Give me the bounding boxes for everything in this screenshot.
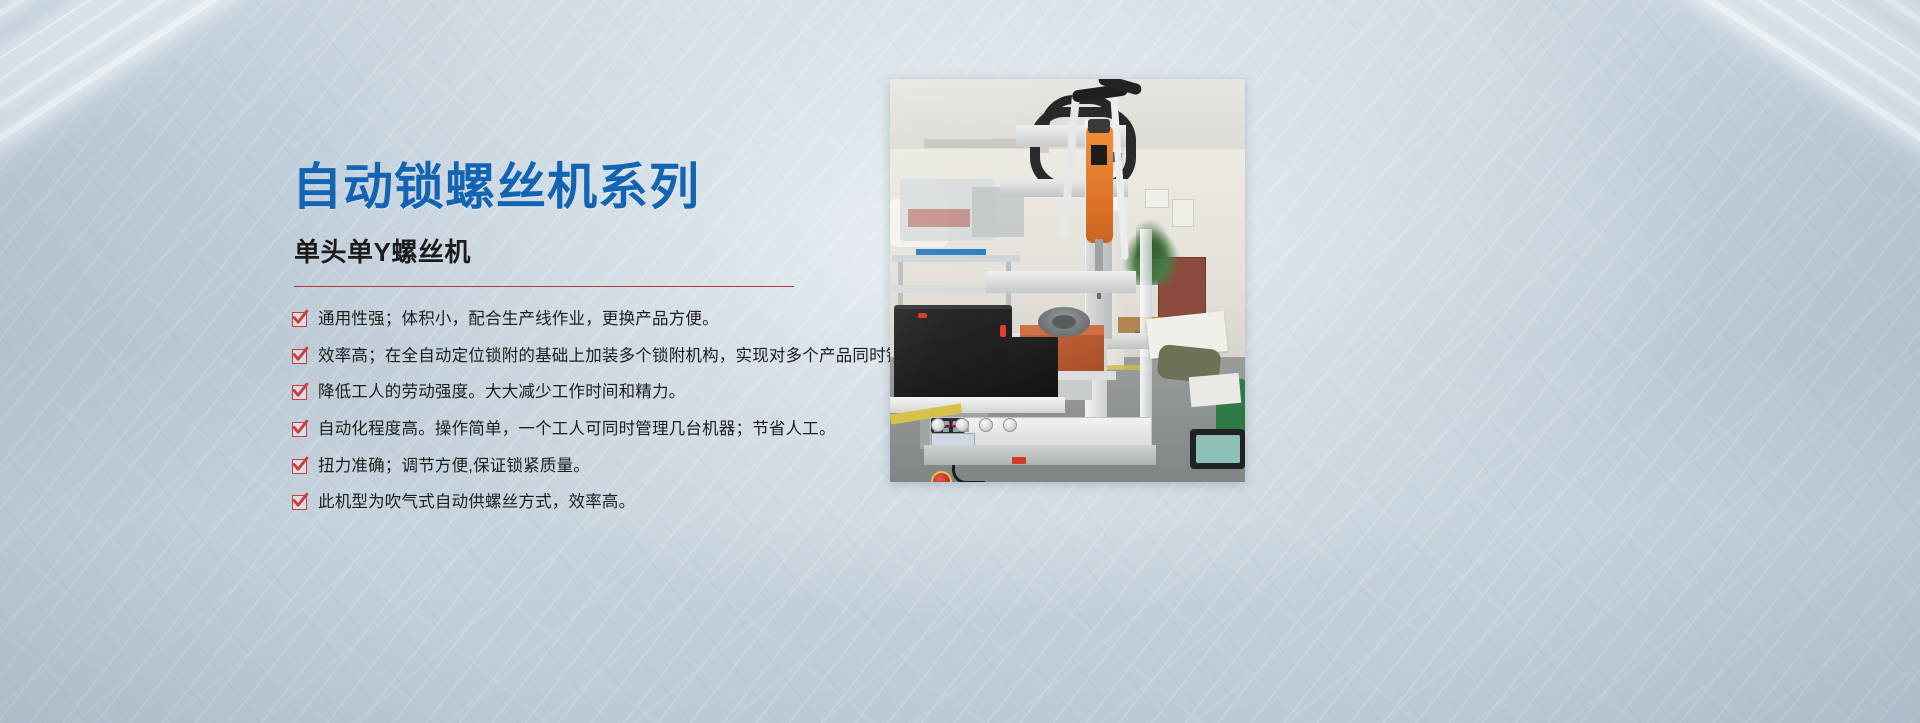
product-photo: 000	[890, 79, 1245, 482]
feature-text: 效率高；在全自动定位锁附的基础上加装多个锁附机构，实现对多个产品同时锁附。	[318, 346, 936, 367]
title-divider	[294, 286, 794, 287]
check-box-icon	[292, 312, 307, 327]
banner-content: 自动锁螺丝机系列 单头单Y螺丝机 通用性强；体积小，配合生产线作业，更换产品方便…	[292, 160, 892, 529]
feature-text: 通用性强；体积小，配合生产线作业，更换产品方便。	[318, 309, 719, 330]
feature-text: 此机型为吹气式自动供螺丝方式，效率高。	[318, 492, 635, 513]
product-banner: 自动锁螺丝机系列 单头单Y螺丝机 通用性强；体积小，配合生产线作业，更换产品方便…	[0, 0, 1920, 723]
list-item: 扭力准确；调节方便,保证锁紧质量。	[292, 456, 892, 477]
feature-text: 自动化程度高。操作简单，一个工人可同时管理几台机器；节省人工。	[318, 419, 836, 440]
page-title: 自动锁螺丝机系列	[292, 160, 892, 214]
feature-text: 降低工人的劳动强度。大大减少工作时间和精力。	[318, 382, 685, 403]
page-subtitle: 单头单Y螺丝机	[294, 232, 892, 269]
list-item: 效率高；在全自动定位锁附的基础上加装多个锁附机构，实现对多个产品同时锁附。	[292, 346, 892, 367]
check-box-icon	[292, 422, 307, 437]
list-item: 此机型为吹气式自动供螺丝方式，效率高。	[292, 492, 892, 513]
check-box-icon	[292, 495, 307, 510]
list-item: 通用性强；体积小，配合生产线作业，更换产品方便。	[292, 309, 892, 330]
photo-sheen-overlay	[890, 79, 1245, 482]
check-box-icon	[292, 459, 307, 474]
feature-text: 扭力准确；调节方便,保证锁紧质量。	[318, 456, 590, 477]
list-item: 自动化程度高。操作简单，一个工人可同时管理几台机器；节省人工。	[292, 419, 892, 440]
check-box-icon	[292, 349, 307, 364]
list-item: 降低工人的劳动强度。大大减少工作时间和精力。	[292, 382, 892, 403]
check-box-icon	[292, 385, 307, 400]
feature-list: 通用性强；体积小，配合生产线作业，更换产品方便。 效率高；在全自动定位锁附的基础…	[292, 309, 892, 513]
